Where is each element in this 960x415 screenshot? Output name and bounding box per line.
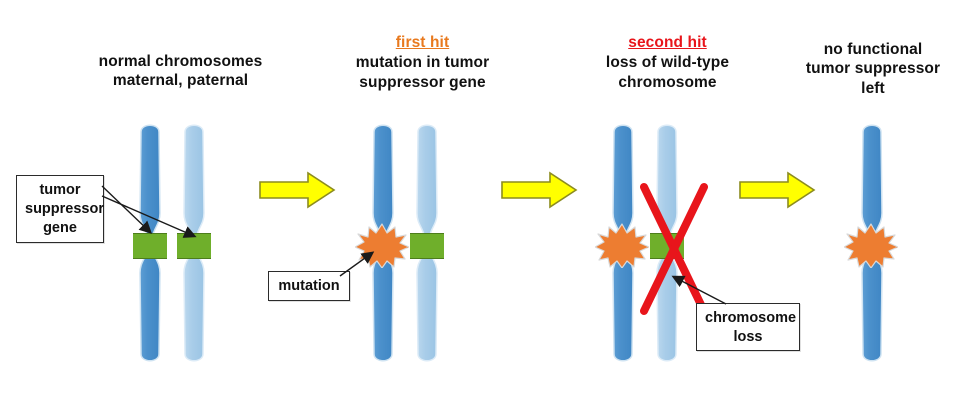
callout-tumor-suppressor-gene: tumor suppressor gene [16, 175, 104, 243]
heading-line-2: suppressor gene [325, 73, 520, 92]
heading-line-2: maternal, paternal [78, 71, 283, 90]
column-heading-second-hit: second hit loss of wild-type chromosome [570, 33, 765, 92]
gene-band-paternal-wildtype [410, 233, 444, 259]
callout-line-2: loss [705, 328, 791, 347]
callout-line-2: suppressor [25, 200, 95, 219]
callout-line-3: gene [25, 219, 95, 238]
pointer-arrow-to-chromosome-loss [668, 272, 730, 308]
figure-canvas: normal chromosomes maternal, paternal fi… [0, 0, 960, 415]
first-hit-label: first hit [325, 33, 520, 53]
second-hit-label: second hit [570, 33, 765, 53]
heading-line-1: loss of wild-type [570, 53, 765, 72]
heading-line-1: no functional [793, 40, 953, 59]
pointer-arrow-to-paternal-gene [100, 192, 210, 252]
pointer-arrow-to-mutation [338, 248, 384, 278]
heading-line-1: mutation in tumor [325, 53, 520, 72]
mutation-starburst-icon-3 [844, 222, 898, 268]
heading-line-3: left [793, 79, 953, 98]
right-arrow-icon-3 [738, 170, 816, 210]
callout-line-1: chromosome [705, 309, 791, 328]
heading-line-1: normal chromosomes [78, 52, 283, 71]
column-heading-result: no functional tumor suppressor left [793, 40, 953, 98]
heading-line-2: chromosome [570, 73, 765, 92]
column-heading-normal: normal chromosomes maternal, paternal [78, 52, 283, 91]
right-arrow-icon-2 [500, 170, 578, 210]
callout-line-1: tumor [25, 181, 95, 200]
right-arrow-icon-1 [258, 170, 336, 210]
callout-chromosome-loss: chromosome loss [696, 303, 800, 351]
callout-line-1: mutation [277, 277, 341, 296]
heading-line-2: tumor suppressor [793, 59, 953, 78]
column-heading-first-hit: first hit mutation in tumor suppressor g… [325, 33, 520, 92]
